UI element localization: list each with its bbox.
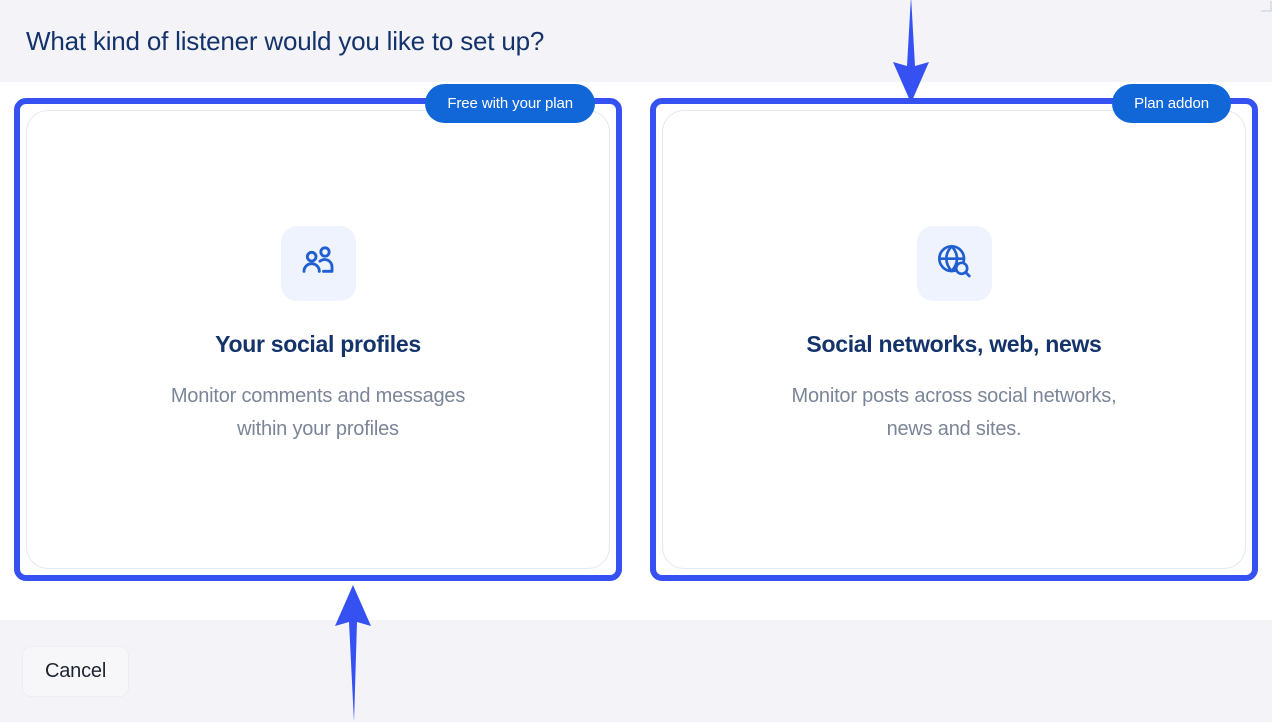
icon-tile xyxy=(281,226,356,301)
card-description: Monitor posts across social networks, ne… xyxy=(789,380,1119,446)
card-title: Your social profiles xyxy=(215,331,421,358)
scroll-corner-icon xyxy=(1260,0,1272,12)
page-title: What kind of listener would you like to … xyxy=(26,26,544,57)
card-inner: Plan addon Social networks, web, news Mo… xyxy=(662,110,1246,569)
listener-options-container: Free with your plan Your social profiles… xyxy=(0,82,1272,620)
badge-plan-addon: Plan addon xyxy=(1112,84,1231,123)
dialog-footer: Cancel xyxy=(0,620,1272,722)
cancel-button[interactable]: Cancel xyxy=(22,646,129,697)
card-description: Monitor comments and messages within you… xyxy=(153,380,483,446)
icon-tile xyxy=(917,226,992,301)
globe-search-icon xyxy=(934,241,974,286)
users-icon xyxy=(298,241,338,286)
listener-option-your-social-profiles[interactable]: Free with your plan Your social profiles… xyxy=(14,98,622,581)
listener-option-social-networks-web-news[interactable]: Plan addon Social networks, web, news Mo… xyxy=(650,98,1258,581)
badge-free-with-your-plan: Free with your plan xyxy=(425,84,595,123)
dialog-header: What kind of listener would you like to … xyxy=(0,0,1272,82)
card-title: Social networks, web, news xyxy=(806,331,1101,358)
card-inner: Free with your plan Your social profiles… xyxy=(26,110,610,569)
